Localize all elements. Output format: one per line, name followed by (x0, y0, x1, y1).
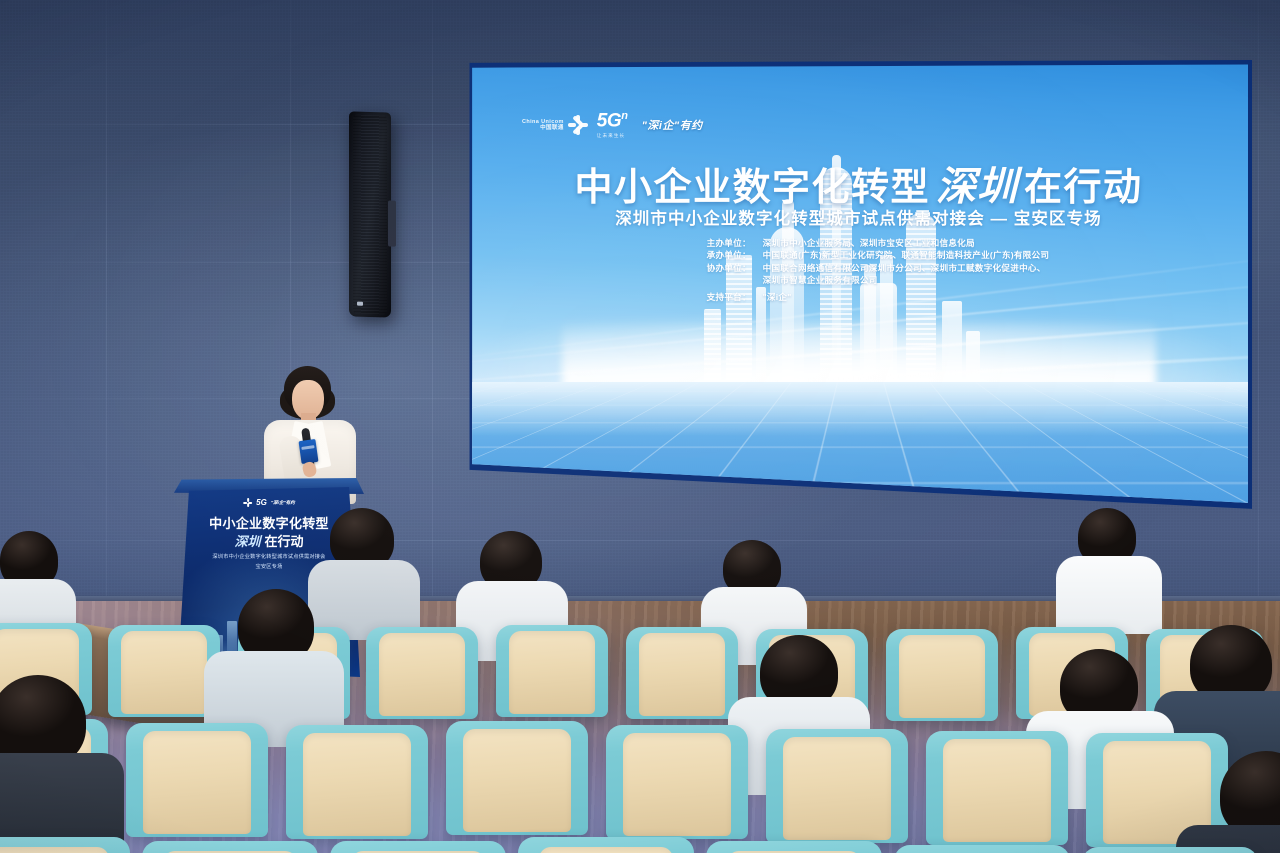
five-g-tagline: 让未来生长 (597, 133, 628, 139)
unicom-brand-cn: 中国联通 (522, 125, 564, 131)
seat (606, 725, 748, 839)
five-g-text: 5G (597, 110, 622, 131)
credit-label: 承办单位： (707, 249, 763, 261)
credit-label: 主办单位： (707, 237, 763, 249)
unicom-logo-lockup: China Unicom 中国联通 5Gn (522, 110, 708, 139)
podium-title-line2: 在行动 (265, 534, 304, 549)
headline-part2: 深圳 (936, 165, 1018, 209)
speaker-badge (357, 302, 363, 306)
unicom-knot-icon (568, 115, 588, 135)
headline-part1: 中小企业数字化转型 (574, 167, 930, 209)
seat (886, 629, 998, 721)
screen-headline: 中小企业数字化转型深圳在行动 (469, 154, 1248, 212)
speaker-bracket (388, 201, 396, 247)
loudspeaker-cabinet (349, 111, 391, 317)
credit-label: 支持平台： (707, 291, 763, 303)
seat (496, 625, 608, 717)
credit-row: 主办单位：深圳市中小企业服务局、深圳市宝安区工业和信息化局 (707, 237, 1050, 249)
credit-row: 支持平台："深i企" (707, 291, 1050, 303)
seat (126, 723, 268, 837)
credit-value: 中国联合网络通信有限公司深圳市分公司、深圳市工赋数字化促进中心、 (763, 262, 1046, 274)
seat (330, 841, 506, 853)
seat (894, 845, 1070, 853)
seat (518, 837, 694, 853)
credit-value: 深圳市中小企业服务局、深圳市宝安区工业和信息化局 (763, 237, 975, 249)
screen-credits-block: 主办单位：深圳市中小企业服务局、深圳市宝安区工业和信息化局 承办单位：中国联通(… (707, 237, 1050, 303)
seat (366, 627, 478, 719)
credit-label: 协办单位： (707, 262, 763, 274)
program-badge: "深i企"有约 (637, 116, 708, 134)
seat (0, 837, 130, 853)
seat (1082, 847, 1258, 853)
seat (926, 731, 1068, 845)
seat (446, 721, 588, 835)
credit-row: 协办单位：中国联合网络通信有限公司深圳市分公司、深圳市工赋数字化促进中心、 (707, 262, 1050, 274)
credit-row: 深圳市智慧企业服务有限公司 (707, 274, 1050, 286)
credit-value: "深i企" (763, 291, 792, 303)
podium-unicom-knot-icon (243, 498, 252, 507)
credit-row: 承办单位：中国联通(广东)新型工业化研究院、联通智能制造科技产业(广东)有限公司 (707, 249, 1050, 261)
audience-seating (0, 553, 1280, 853)
seat (626, 627, 738, 719)
podium-five-g: 5G (256, 498, 267, 507)
screen-subtitle: 深圳市中小企业数字化转型城市试点供需对接会 — 宝安区专场 (469, 205, 1248, 229)
conference-hall-photo: China Unicom 中国联通 5Gn (0, 0, 1280, 853)
five-g-wordmark: 5Gn (597, 110, 628, 132)
podium-title-script: 深圳 (234, 534, 260, 549)
microphone-flag (298, 439, 318, 464)
seat (286, 725, 428, 839)
credit-label (707, 274, 763, 286)
podium-logo-lockup: 5G "深i企"有约 (243, 498, 295, 507)
podium-badge: "深i企"有约 (271, 500, 295, 506)
seat (766, 729, 908, 843)
credit-value: 深圳市智慧企业服务有限公司 (763, 274, 878, 286)
five-g-superscript: n (621, 110, 627, 122)
led-screen: China Unicom 中国联通 5Gn (469, 64, 1248, 525)
seat (706, 841, 882, 853)
credit-value: 中国联通(广东)新型工业化研究院、联通智能制造科技产业(广东)有限公司 (763, 249, 1050, 261)
seat (142, 841, 318, 853)
speaker-grill (353, 115, 387, 315)
led-screen-bezel: China Unicom 中国联通 5Gn (466, 60, 1252, 530)
headline-part3: 在行动 (1024, 167, 1143, 209)
